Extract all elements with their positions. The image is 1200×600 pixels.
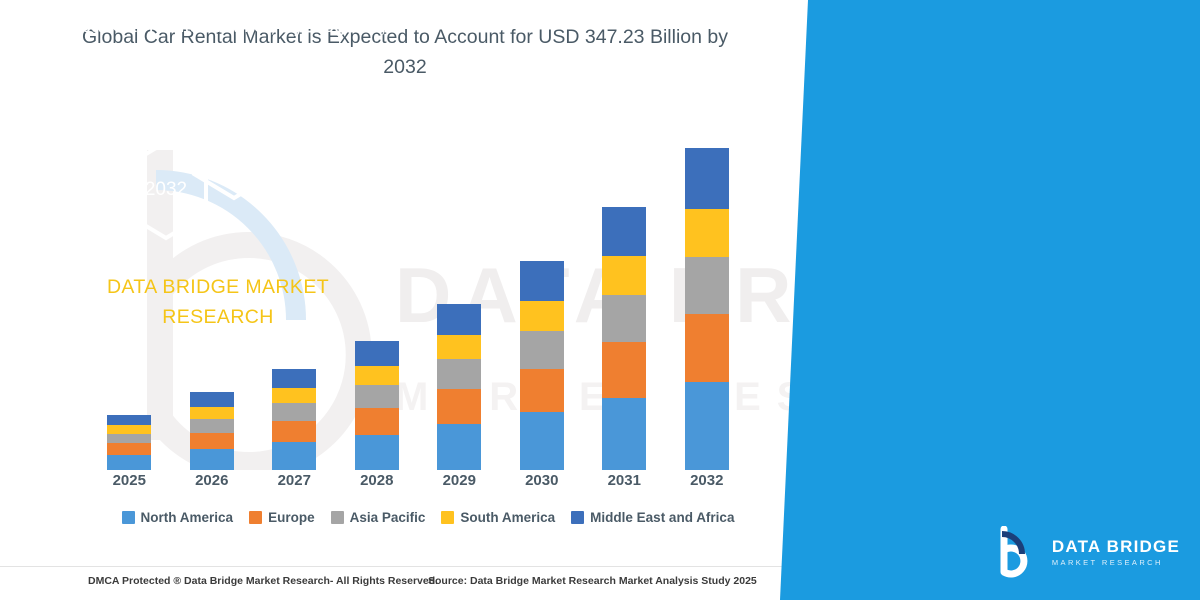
x-tick-2029: 2029 — [418, 472, 501, 496]
bar-segment — [272, 421, 316, 442]
bar-segment — [107, 415, 151, 426]
bar-segment — [437, 304, 481, 335]
stacked-bar — [685, 148, 729, 470]
x-tick-2027: 2027 — [253, 472, 336, 496]
bar-segment — [272, 442, 316, 470]
brand-line-1: DATA BRIDGE MARKET — [38, 272, 398, 302]
legend-swatch-icon — [571, 511, 584, 524]
bar-group-2030 — [501, 120, 584, 470]
bar-segment — [685, 314, 729, 381]
bar-segment — [355, 341, 399, 366]
bar-segment — [685, 257, 729, 315]
bar-segment — [520, 331, 564, 368]
brand-line-2: RESEARCH — [38, 302, 398, 332]
dbmr-logo: DATA BRIDGE MARKET RESEARCH — [996, 526, 1180, 578]
bar-segment — [272, 369, 316, 388]
bar-segment — [107, 455, 151, 470]
stacked-bar — [437, 304, 481, 470]
bar-segment — [685, 148, 729, 209]
legend-swatch-icon — [331, 511, 344, 524]
footer-bar: DMCA Protected ® Data Bridge Market Rese… — [0, 566, 800, 600]
bar-segment — [190, 392, 234, 407]
bar-group-2029 — [418, 120, 501, 470]
stacked-bar — [190, 392, 234, 470]
bar-segment — [602, 342, 646, 397]
legend-label: South America — [460, 510, 555, 525]
bar-segment — [437, 389, 481, 424]
footer-source: Source: Data Bridge Market Research Mark… — [428, 575, 757, 587]
legend-label: Asia Pacific — [350, 510, 426, 525]
bar-group-2032 — [666, 120, 749, 470]
bar-segment — [107, 443, 151, 455]
x-tick-2028: 2028 — [336, 472, 419, 496]
bar-segment — [685, 209, 729, 257]
bar-segment — [272, 388, 316, 403]
legend-label: Middle East and Africa — [590, 510, 734, 525]
stacked-bar — [520, 261, 564, 470]
bar-segment — [602, 295, 646, 342]
x-tick-2026: 2026 — [171, 472, 254, 496]
stacked-bar — [107, 415, 151, 470]
brand-text: DATA BRIDGE MARKET RESEARCH — [38, 272, 398, 332]
bar-segment — [355, 385, 399, 408]
bar-segment — [602, 398, 646, 471]
bar-segment — [685, 382, 729, 470]
x-tick-2031: 2031 — [583, 472, 666, 496]
legend-swatch-icon — [441, 511, 454, 524]
bar-segment — [520, 301, 564, 332]
bar-segment — [520, 412, 564, 470]
infographic-page: Global Car Rental Market is Expected to … — [0, 0, 1200, 600]
logo-tagline: MARKET RESEARCH — [1052, 559, 1180, 567]
bar-segment — [190, 433, 234, 449]
legend-item[interactable]: Middle East and Africa — [571, 510, 734, 525]
bar-segment — [190, 449, 234, 470]
right-blue-panel — [780, 0, 1200, 600]
logo-b-icon — [996, 526, 1042, 578]
legend-swatch-icon — [249, 511, 262, 524]
footer-copyright: DMCA Protected ® Data Bridge Market Rese… — [88, 575, 438, 587]
bar-segment — [355, 435, 399, 470]
bar-segment — [520, 261, 564, 300]
x-tick-2030: 2030 — [501, 472, 584, 496]
bar-group-2031 — [583, 120, 666, 470]
bar-segment — [602, 256, 646, 295]
legend-item[interactable]: South America — [441, 510, 555, 525]
x-tick-2032: 2032 — [666, 472, 749, 496]
stacked-bar — [602, 207, 646, 470]
bar-segment — [520, 369, 564, 413]
bar-segment — [190, 407, 234, 419]
bar-segment — [107, 434, 151, 444]
bar-segment — [437, 359, 481, 389]
bar-segment — [602, 207, 646, 256]
legend-item[interactable]: North America — [122, 510, 234, 525]
bar-segment — [437, 335, 481, 360]
stacked-bar — [272, 369, 316, 470]
stacked-bar — [355, 341, 399, 470]
dbmr-logo-mark-icon — [996, 526, 1042, 578]
legend-item[interactable]: Asia Pacific — [331, 510, 426, 525]
legend-swatch-icon — [122, 511, 135, 524]
right-panel-title: Global Car Rental Market, By Regions, 20… — [38, 12, 398, 68]
x-tick-2025: 2025 — [88, 472, 171, 496]
hexagon-badges: 2032 2025 — [110, 120, 360, 230]
hexagon-badge-2025: 2025 — [188, 98, 280, 202]
x-axis-tick-labels: 20252026202720282029203020312032 — [88, 472, 748, 496]
bar-segment — [355, 408, 399, 435]
dbmr-logo-text: DATA BRIDGE MARKET RESEARCH — [1052, 538, 1180, 567]
legend-label: Europe — [268, 510, 315, 525]
bar-segment — [437, 424, 481, 470]
bar-segment — [272, 403, 316, 421]
bar-segment — [107, 425, 151, 434]
logo-name: DATA BRIDGE — [1052, 538, 1180, 555]
legend-label: North America — [141, 510, 234, 525]
bar-segment — [190, 419, 234, 433]
hexagon-badge-2025-label: 2025 — [188, 98, 280, 202]
legend-item[interactable]: Europe — [249, 510, 315, 525]
chart-legend: North AmericaEuropeAsia PacificSouth Ame… — [88, 510, 768, 525]
bar-segment — [355, 366, 399, 385]
